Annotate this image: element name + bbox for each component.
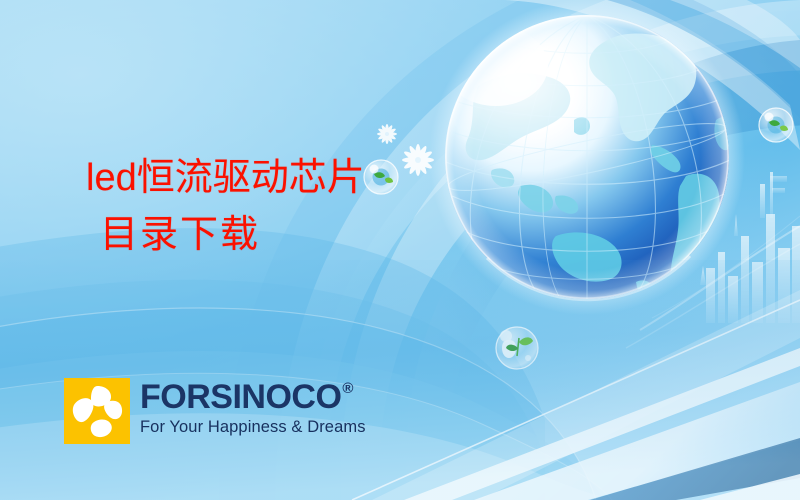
brand-name-text: FORSINOCO xyxy=(140,380,341,414)
headline-line-1-latin: led xyxy=(86,157,137,199)
promo-banner: led恒流驱动芯片 目录下载 FORSINO xyxy=(0,0,800,500)
forsinoco-pinwheel-mark xyxy=(64,378,130,444)
headline-line-1-cjk: 恒流驱动芯片 xyxy=(137,155,365,199)
brand-logo-lockup: FORSINOCO® For Your Happiness & Dreams xyxy=(64,378,366,444)
headline-line-1: led恒流驱动芯片 xyxy=(86,158,365,197)
bubble-globe-small xyxy=(364,160,398,194)
bubble-globe-right xyxy=(759,108,793,142)
registered-trademark-icon: ® xyxy=(342,381,353,396)
brand-tagline: For Your Happiness & Dreams xyxy=(140,418,366,437)
headline-block: led恒流驱动芯片 目录下载 xyxy=(86,158,365,253)
logo-wordmark-block: FORSINOCO® For Your Happiness & Dreams xyxy=(140,378,366,437)
brand-name: FORSINOCO® xyxy=(140,380,366,414)
headline-line-2: 目录下载 xyxy=(86,215,365,253)
